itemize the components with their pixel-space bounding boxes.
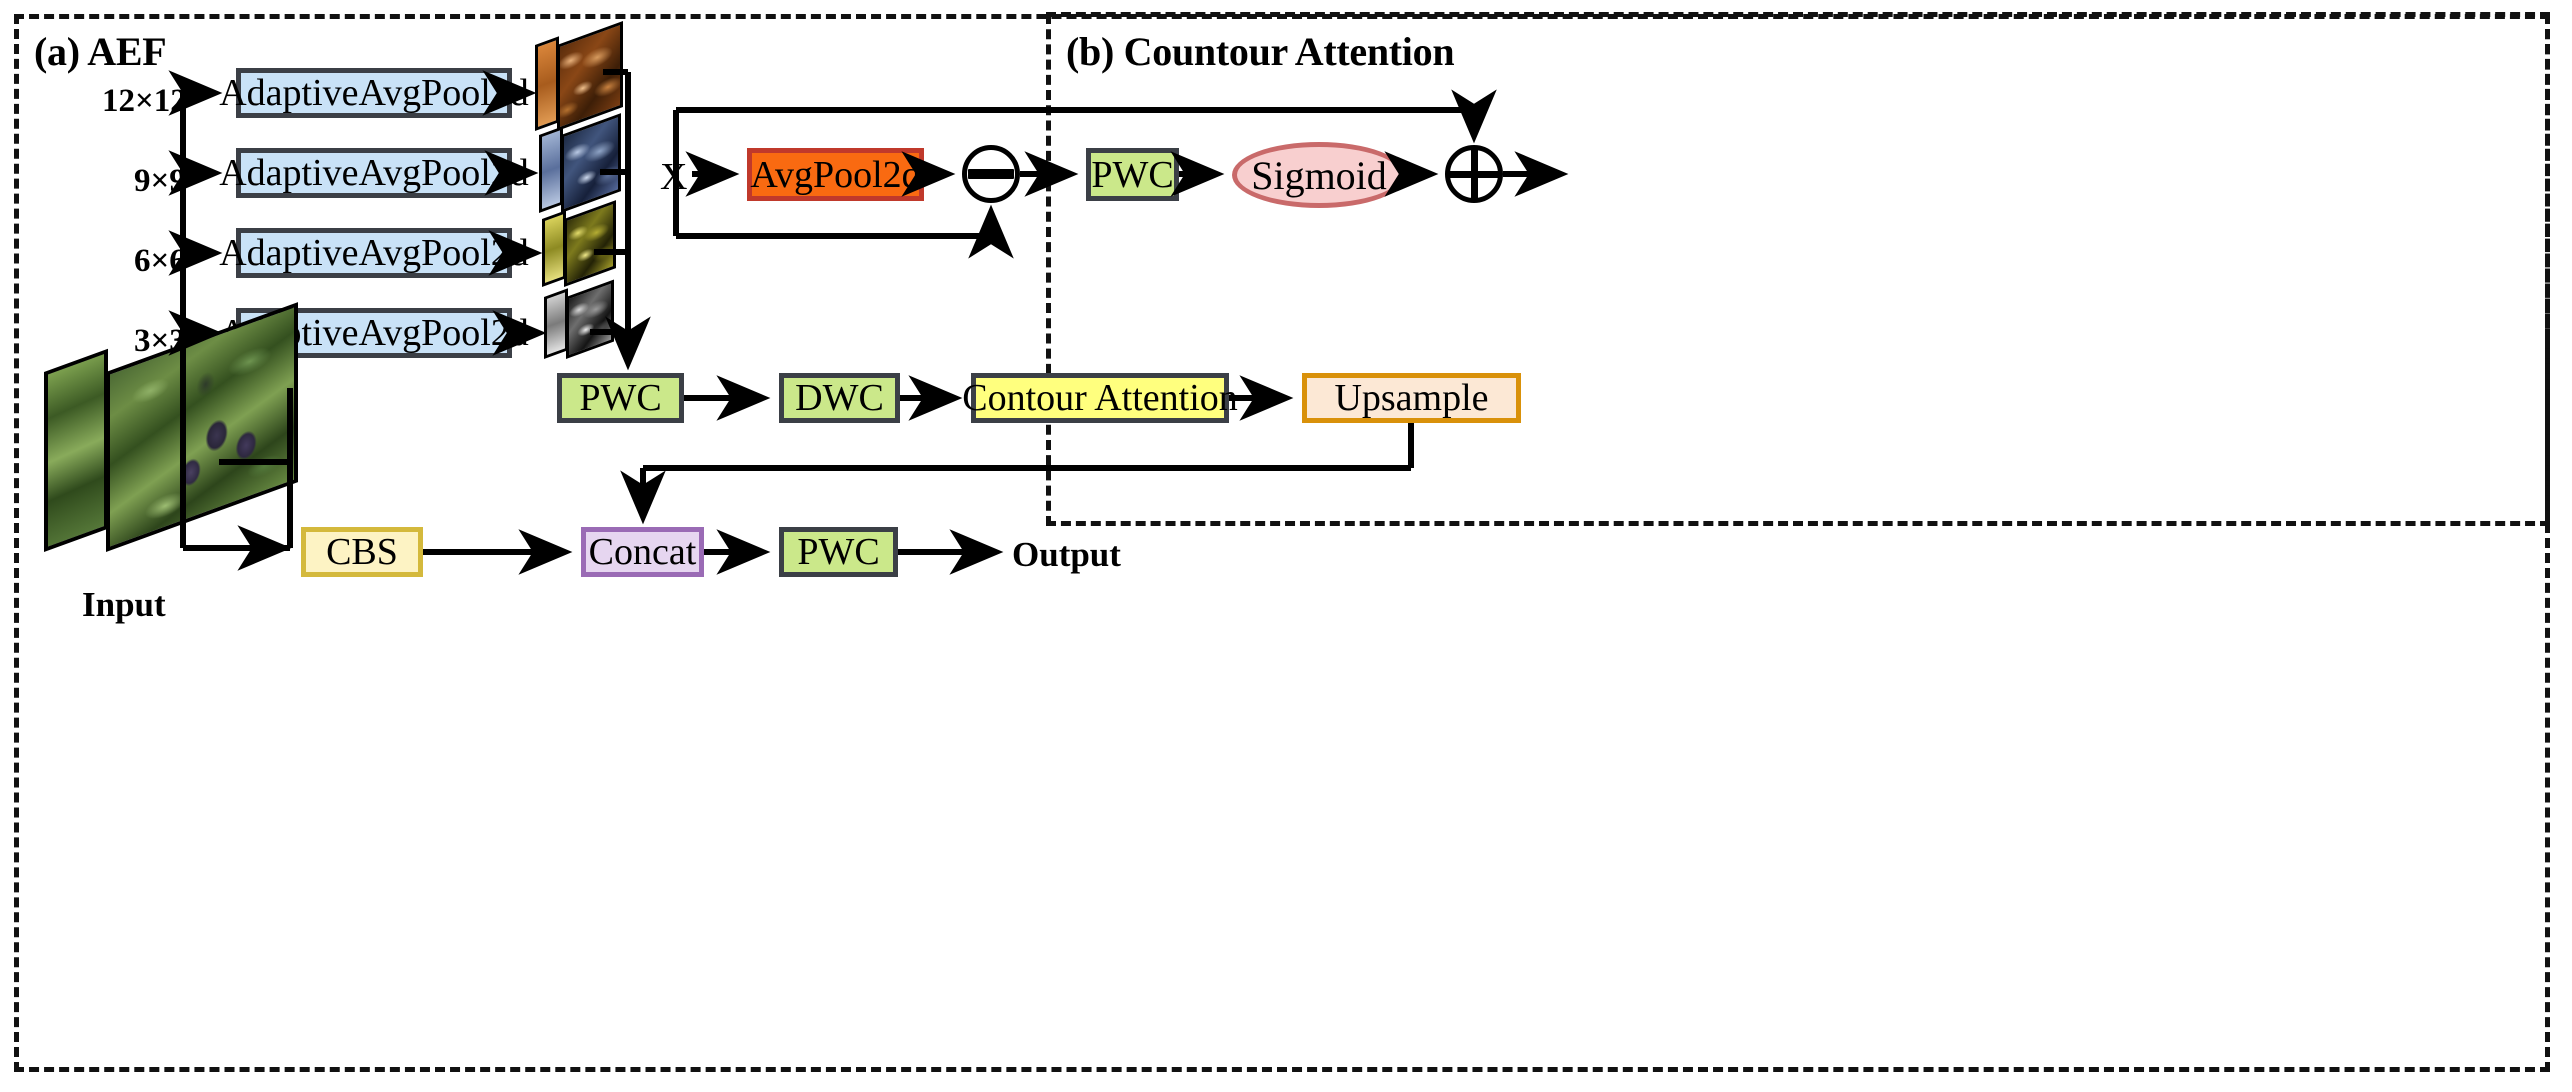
adaptive-avgpool-box-2[interactable]: AdaptiveAvgPool2d xyxy=(236,148,512,198)
panel-b-title: (b) Countour Attention xyxy=(1066,28,1454,75)
contour-attention-box[interactable]: Contour Attention xyxy=(971,373,1229,423)
add-operator[interactable] xyxy=(1445,145,1503,203)
sigmoid-node[interactable]: Sigmoid xyxy=(1232,142,1406,208)
figure-canvas: (a) AEF (b) Countour Attention 12×12 9×9… xyxy=(0,0,2572,1092)
scale-label-9x9: 9×9 xyxy=(134,163,186,200)
orange-feature-map xyxy=(535,45,601,131)
concat-box[interactable]: Concat xyxy=(581,527,704,577)
input-image xyxy=(44,372,300,552)
subtract-operator[interactable] xyxy=(962,145,1020,203)
plus-glyph-v xyxy=(1471,148,1478,200)
upsample-box[interactable]: Upsample xyxy=(1302,373,1521,423)
panel-b-border xyxy=(1046,14,2550,526)
minus-glyph xyxy=(968,169,1014,179)
panel-b-top-border xyxy=(1046,12,2550,17)
avgpool2d-box[interactable]: AvgPool2d xyxy=(747,148,924,201)
output-label: Output xyxy=(1012,535,1121,575)
input-label: Input xyxy=(82,585,166,625)
cbs-box[interactable]: CBS xyxy=(301,527,423,577)
panel-a-title: (a) AEF xyxy=(34,28,166,75)
scale-label-6x6: 6×6 xyxy=(134,243,186,280)
olive-feature-map xyxy=(542,219,594,287)
scale-label-12x12: 12×12 xyxy=(102,83,187,120)
pwc-bottom-box[interactable]: PWC xyxy=(779,527,898,577)
dwc-box[interactable]: DWC xyxy=(779,373,900,423)
pwc-top-box[interactable]: PWC xyxy=(557,373,684,423)
adaptive-avgpool-box-1[interactable]: AdaptiveAvgPool2d xyxy=(236,68,512,118)
gray-feature-map xyxy=(544,297,592,359)
contour-pwc-box[interactable]: PWC xyxy=(1086,148,1179,201)
blue-feature-map xyxy=(539,135,599,213)
adaptive-avgpool-box-3[interactable]: AdaptiveAvgPool2d xyxy=(236,228,512,278)
contour-input-x-label: X xyxy=(660,155,687,199)
